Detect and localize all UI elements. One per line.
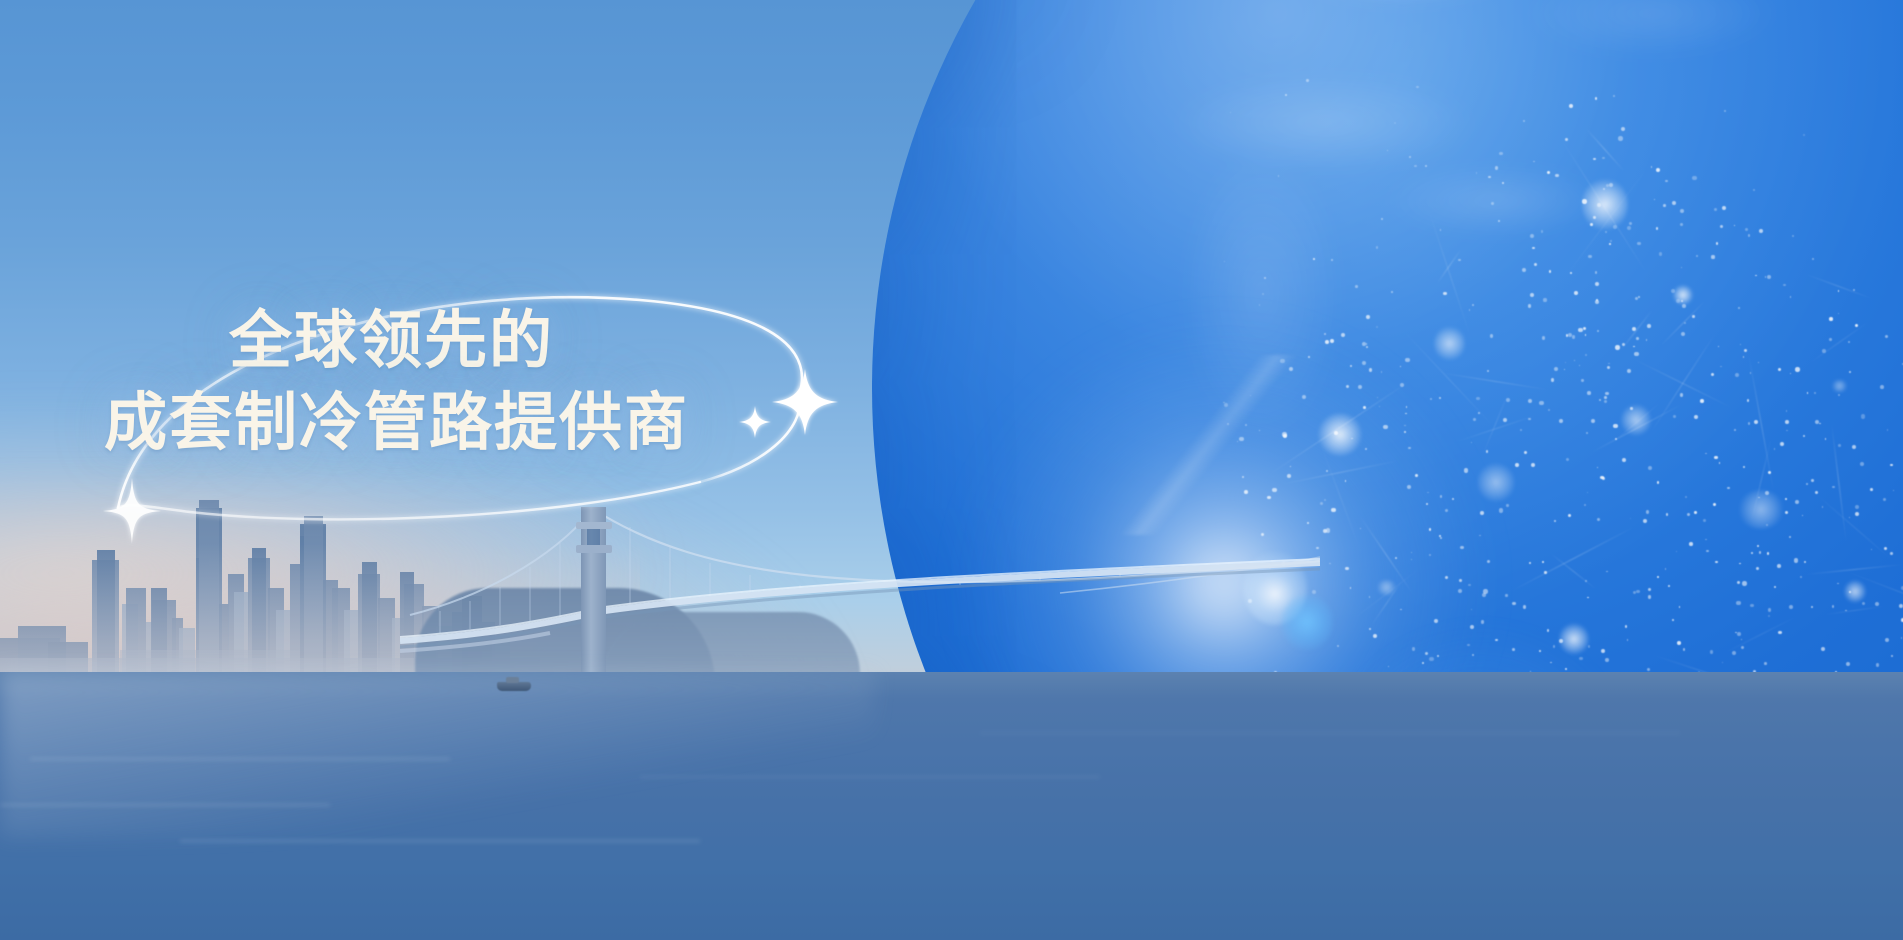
bridge-tower-crossbeam-top xyxy=(576,522,612,529)
harbor-water xyxy=(0,672,1903,940)
bridge-tower-gap xyxy=(587,527,600,545)
water-sheen xyxy=(0,672,875,838)
bridge-tower-crossbeam xyxy=(576,545,612,553)
headline-block: 全球领先的 成套制冷管路提供商 xyxy=(104,305,689,459)
headline-line-1: 全球领先的 xyxy=(229,305,689,377)
headline-line-2: 成套制冷管路提供商 xyxy=(104,387,689,459)
hero-banner: 全球领先的 成套制冷管路提供商 xyxy=(0,0,1903,940)
ferry-boat xyxy=(497,682,531,691)
